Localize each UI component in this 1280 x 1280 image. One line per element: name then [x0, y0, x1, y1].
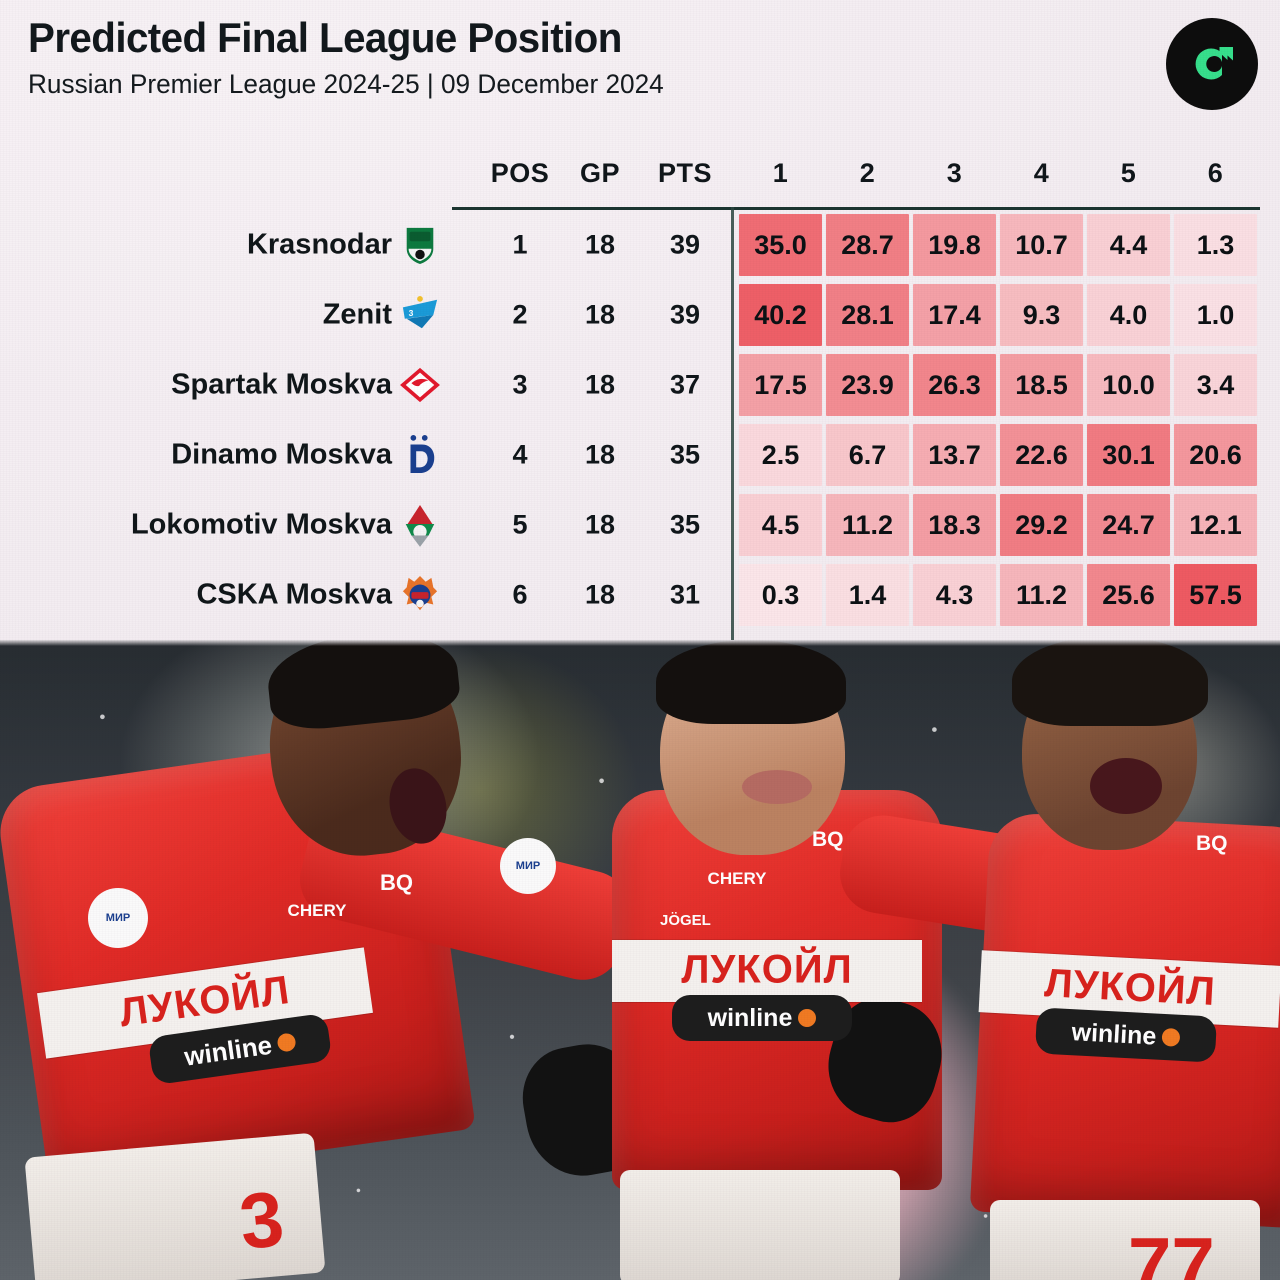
heat-cell-value: 10.0 — [1102, 370, 1155, 401]
svg-text:3: 3 — [409, 308, 414, 318]
col-header-3: 3 — [913, 158, 996, 189]
heat-cell: 4.3 — [913, 564, 996, 626]
winline-dot-icon-2 — [798, 1009, 816, 1027]
heat-cell: 24.7 — [1087, 494, 1170, 556]
heat-cell-value: 6.7 — [849, 440, 887, 471]
heat-cell: 4.0 — [1087, 284, 1170, 346]
krasnodar-crest — [398, 223, 442, 267]
heat-cell-value: 20.6 — [1189, 440, 1242, 471]
heat-cell: 0.3 — [739, 564, 822, 626]
heat-cell-value: 1.4 — [849, 580, 887, 611]
player-center-lukoil-text: ЛУКОЙЛ — [612, 948, 922, 993]
cell-pts: 35 — [645, 440, 725, 471]
player-center-jogel-text: JÖGEL — [660, 912, 711, 929]
player-right-shorts — [990, 1200, 1260, 1280]
player-center-bq-text: BQ — [812, 828, 844, 852]
winline-dot-icon — [276, 1032, 296, 1052]
cell-pts: 35 — [645, 510, 725, 541]
cell-gp: 18 — [560, 300, 640, 331]
player-right-number: 77 — [1128, 1220, 1215, 1280]
heat-cell: 23.9 — [826, 354, 909, 416]
heat-cell-value: 18.5 — [1015, 370, 1068, 401]
player-center-hair — [656, 640, 846, 724]
heat-cell: 28.7 — [826, 214, 909, 276]
player-center-chery-text: CHERY — [692, 870, 782, 887]
infographic-card: Predicted Final League Position Russian … — [0, 0, 1280, 1280]
cell-pts: 39 — [645, 230, 725, 261]
player-center-mouth — [742, 770, 812, 804]
heat-cell-value: 35.0 — [754, 230, 807, 261]
mir-patch-text-2: МИР — [516, 860, 540, 872]
player-center-mir-patch: МИР — [500, 838, 556, 894]
table-row: CSKA Moskva618310.31.44.311.225.657.5 — [0, 560, 1280, 630]
cell-pts: 37 — [645, 370, 725, 401]
team-name: Krasnodar — [247, 229, 392, 262]
cell-pos: 5 — [480, 510, 560, 541]
opta-c-arrow-icon — [1181, 33, 1243, 95]
heat-cell: 18.3 — [913, 494, 996, 556]
player-right-winline-badge: winline — [1035, 1007, 1217, 1062]
team-name: Lokomotiv Moskva — [131, 509, 392, 542]
winline-dot-icon-3 — [1162, 1028, 1181, 1047]
heat-cell: 29.2 — [1000, 494, 1083, 556]
table-row: Lokomotiv Moskva518354.511.218.329.224.7… — [0, 490, 1280, 560]
photo-top-fade — [0, 640, 1280, 646]
heat-cell-value: 4.4 — [1110, 230, 1148, 261]
heat-cell-value: 30.1 — [1102, 440, 1155, 471]
player-right-lukoil-text: ЛУКОЙЛ — [979, 958, 1280, 1019]
player-left-mir-patch: МИР — [88, 888, 148, 948]
stats-panel: Predicted Final League Position Russian … — [0, 0, 1280, 642]
heat-cell-value: 24.7 — [1102, 510, 1155, 541]
heat-cell-value: 29.2 — [1015, 510, 1068, 541]
heat-cell-value: 11.2 — [842, 510, 893, 541]
heat-cell-value: 1.0 — [1197, 300, 1235, 331]
cell-gp: 18 — [560, 230, 640, 261]
lokomotiv-crest — [398, 503, 442, 547]
celebration-photo: ЛУКОЙЛ winline МИР CHERY BQ 3 ЛУК — [0, 640, 1280, 1280]
heat-cell: 12.1 — [1174, 494, 1257, 556]
cell-pos: 1 — [480, 230, 560, 261]
heat-cell: 40.2 — [739, 284, 822, 346]
heat-cell: 1.3 — [1174, 214, 1257, 276]
heat-cell-value: 13.7 — [928, 440, 981, 471]
team-name: Spartak Moskva — [171, 369, 392, 402]
cell-pos: 2 — [480, 300, 560, 331]
cell-pos: 3 — [480, 370, 560, 401]
heat-cell: 2.5 — [739, 424, 822, 486]
team-name: Zenit — [323, 299, 392, 332]
heat-cell: 22.6 — [1000, 424, 1083, 486]
heat-cell-value: 4.5 — [762, 510, 800, 541]
heat-cell-value: 10.7 — [1015, 230, 1068, 261]
heat-cell: 17.4 — [913, 284, 996, 346]
player-left-chery-text: CHERY — [272, 902, 362, 919]
player-right-mouth — [1090, 758, 1162, 814]
cell-gp: 18 — [560, 370, 640, 401]
page-subtitle: Russian Premier League 2024-25 | 09 Dece… — [28, 70, 1144, 100]
heat-cell: 18.5 — [1000, 354, 1083, 416]
page-title: Predicted Final League Position — [28, 16, 1132, 60]
cell-gp: 18 — [560, 510, 640, 541]
header: Predicted Final League Position Russian … — [28, 16, 1178, 100]
heat-cell-value: 28.7 — [841, 230, 894, 261]
player-left-winline-text: winline — [182, 1029, 274, 1072]
heat-cell: 6.7 — [826, 424, 909, 486]
heat-cell-value: 25.6 — [1102, 580, 1155, 611]
heat-cell-value: 12.1 — [1189, 510, 1242, 541]
heat-cell-value: 22.6 — [1015, 440, 1068, 471]
heat-cell: 4.4 — [1087, 214, 1170, 276]
heat-cell-value: 18.3 — [928, 510, 981, 541]
cska-crest — [398, 573, 442, 617]
heat-cell: 57.5 — [1174, 564, 1257, 626]
heat-cell-value: 28.1 — [841, 300, 894, 331]
heat-cell: 10.7 — [1000, 214, 1083, 276]
col-header-pos: POS — [480, 158, 560, 189]
heat-cell: 26.3 — [913, 354, 996, 416]
heat-cell: 10.0 — [1087, 354, 1170, 416]
heat-cell-value: 0.3 — [762, 580, 800, 611]
heat-cell: 4.5 — [739, 494, 822, 556]
player-right-hair — [1012, 640, 1208, 726]
col-header-gp: GP — [560, 158, 640, 189]
player-center-shorts — [620, 1170, 900, 1280]
zenit-crest: 3 — [398, 293, 442, 337]
heat-cell-value: 4.3 — [936, 580, 974, 611]
heat-cell: 1.4 — [826, 564, 909, 626]
heat-cell: 9.3 — [1000, 284, 1083, 346]
heat-cell-value: 1.3 — [1197, 230, 1235, 261]
heat-cell-value: 4.0 — [1110, 300, 1148, 331]
heat-cell-value: 2.5 — [762, 440, 800, 471]
heat-cell: 11.2 — [826, 494, 909, 556]
player-right-bq-text: BQ — [1196, 832, 1228, 856]
heat-cell: 30.1 — [1087, 424, 1170, 486]
player-center-winline-badge: winline — [672, 995, 852, 1041]
heat-cell-value: 23.9 — [841, 370, 894, 401]
cell-gp: 18 — [560, 580, 640, 611]
heat-cell-value: 40.2 — [754, 300, 807, 331]
heat-cell-value: 17.5 — [754, 370, 807, 401]
col-header-1: 1 — [739, 158, 822, 189]
heat-cell-value: 57.5 — [1189, 580, 1242, 611]
col-header-pts: PTS — [645, 158, 725, 189]
opta-circle-logo — [1166, 18, 1258, 110]
heat-cell: 19.8 — [913, 214, 996, 276]
heat-cell-value: 9.3 — [1023, 300, 1061, 331]
team-name: CSKA Moskva — [196, 579, 392, 612]
spartak-crest — [398, 363, 442, 407]
col-header-5: 5 — [1087, 158, 1170, 189]
col-header-4: 4 — [1000, 158, 1083, 189]
cell-pts: 31 — [645, 580, 725, 611]
col-header-2: 2 — [826, 158, 909, 189]
heat-cell-value: 3.4 — [1197, 370, 1235, 401]
mir-patch-text: МИР — [106, 912, 130, 924]
cell-pos: 4 — [480, 440, 560, 471]
heat-cell-value: 19.8 — [928, 230, 981, 261]
player-center-winline-text: winline — [708, 1004, 793, 1033]
table-body: Krasnodar1183935.028.719.810.74.41.3Zeni… — [0, 210, 1280, 630]
cell-pos: 6 — [480, 580, 560, 611]
heat-cell: 13.7 — [913, 424, 996, 486]
cell-gp: 18 — [560, 440, 640, 471]
heat-cell: 28.1 — [826, 284, 909, 346]
dinamo-crest — [398, 433, 442, 477]
table-header-row: POS GP PTS 1 2 3 4 5 6 — [0, 150, 1280, 202]
heat-cell: 20.6 — [1174, 424, 1257, 486]
heat-cell: 1.0 — [1174, 284, 1257, 346]
table-row: Zenit32183940.228.117.49.34.01.0 — [0, 280, 1280, 350]
table-row: Krasnodar1183935.028.719.810.74.41.3 — [0, 210, 1280, 280]
heat-cell: 35.0 — [739, 214, 822, 276]
heat-cell: 3.4 — [1174, 354, 1257, 416]
team-name: Dinamo Moskva — [171, 439, 392, 472]
player-left-bq-text: BQ — [380, 870, 413, 896]
heat-cell: 11.2 — [1000, 564, 1083, 626]
col-header-6: 6 — [1174, 158, 1257, 189]
heat-cell-value: 17.4 — [928, 300, 981, 331]
table-row: Dinamo Moskva418352.56.713.722.630.120.6 — [0, 420, 1280, 490]
heat-cell-value: 26.3 — [928, 370, 981, 401]
cell-pts: 39 — [645, 300, 725, 331]
player-center-chest-band: ЛУКОЙЛ — [612, 940, 922, 1002]
heat-cell-value: 11.2 — [1016, 580, 1067, 611]
standings-table: POS GP PTS 1 2 3 4 5 6 Krasnodar1183935.… — [0, 150, 1280, 202]
player-right-winline-text: winline — [1071, 1018, 1157, 1051]
heat-cell: 25.6 — [1087, 564, 1170, 626]
heat-cell: 17.5 — [739, 354, 822, 416]
table-row: Spartak Moskva3183717.523.926.318.510.03… — [0, 350, 1280, 420]
